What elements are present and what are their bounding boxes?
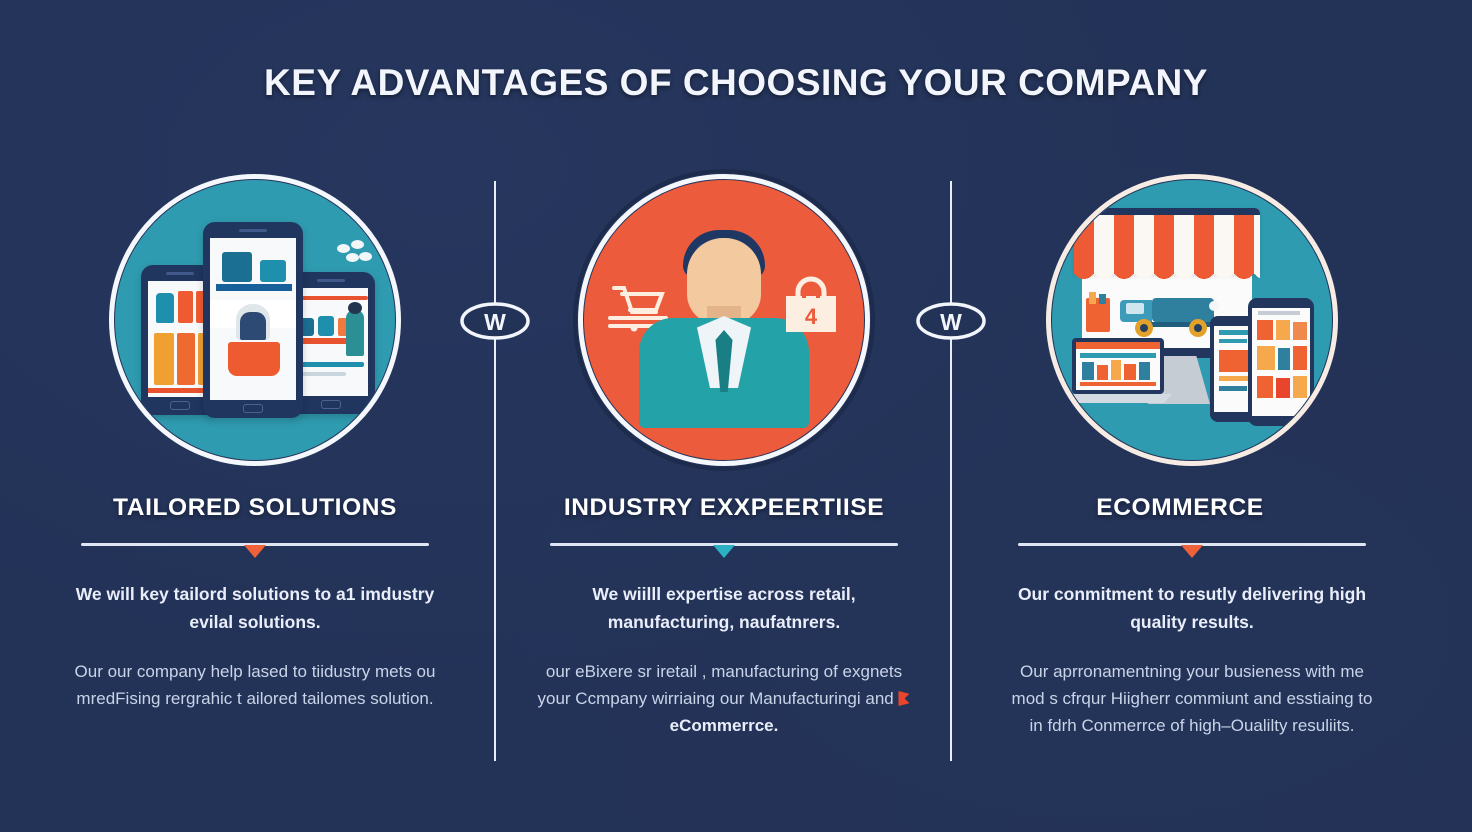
heading-divider-rule: [81, 540, 429, 554]
flag-mark-icon: [898, 691, 909, 706]
shop-shelf-products: [1086, 292, 1112, 334]
triangle-marker-icon: [713, 545, 735, 558]
image-industry-expertise: 4: [584, 180, 864, 460]
triangle-marker-icon: [1181, 545, 1203, 558]
heading-ecommerce: ECOMMERCE: [997, 494, 1387, 522]
image-ecommerce: [1052, 180, 1332, 460]
divider-1: [494, 181, 496, 761]
heading-divider-rule: [550, 540, 898, 554]
paragraph-primary-expertise: We wiilll expertise across retail, manuf…: [529, 580, 919, 636]
svg-text:W: W: [940, 309, 962, 335]
paragraph-primary-ecommerce: Our conmitment to resutly delivering hig…: [997, 580, 1387, 636]
triangle-marker-icon: [244, 545, 266, 558]
phone-large-icon: [1248, 298, 1314, 426]
heading-divider-rule: [1018, 540, 1366, 554]
laptop-icon: [1066, 338, 1172, 404]
paragraph-secondary-expertise-part1: our eBixere sr iretail , manufacturing o…: [538, 662, 903, 708]
paragraph-secondary-expertise-part2: eCommerrce.: [670, 716, 779, 735]
lock-bag-icon: 4: [780, 276, 842, 336]
decorative-dots-icon: [337, 240, 371, 266]
page-title: KEY ADVANTAGES OF CHOOSING YOUR COMPANY: [0, 62, 1472, 104]
three-smartphones-shopping-illustration: [115, 180, 395, 460]
paragraph-secondary-tailored: Our our company help lased to tiidustry …: [60, 658, 450, 712]
eye-w-icon: W: [913, 296, 989, 346]
businessman-with-cart-and-lock-illustration: 4: [584, 180, 864, 460]
divider-2: [950, 181, 952, 761]
heading-industry-expertise: INDUSTRY EXXPEERTIISE: [529, 494, 919, 522]
heading-tailored-solutions: TAILORED SOLUTIONS: [60, 494, 450, 522]
svg-text:W: W: [484, 309, 506, 335]
paragraph-secondary-expertise: our eBixere sr iretail , manufacturing o…: [529, 658, 919, 739]
column-tailored-solutions: TAILORED SOLUTIONS We will key tailord s…: [60, 180, 450, 712]
shop-awning-icon: [1074, 208, 1260, 274]
eye-w-icon: W: [457, 296, 533, 346]
phone-center-icon: [203, 222, 303, 418]
shop-awning-truck-devices-illustration: [1052, 180, 1332, 460]
svg-text:4: 4: [805, 304, 818, 329]
column-industry-expertise: 4 INDUSTRY EXXPEERTIISE We wiilll expert…: [529, 180, 919, 739]
paragraph-primary-tailored: We will key tailord solutions to a1 imdu…: [60, 580, 450, 636]
infographic-canvas: KEY ADVANTAGES OF CHOOSING YOUR COMPANY: [0, 0, 1472, 832]
column-ecommerce: ECOMMERCE Our conmitment to resutly deli…: [997, 180, 1387, 739]
image-tailored-solutions: [115, 180, 395, 460]
paragraph-secondary-ecommerce: Our aprronamentning your busieness with …: [997, 658, 1387, 739]
